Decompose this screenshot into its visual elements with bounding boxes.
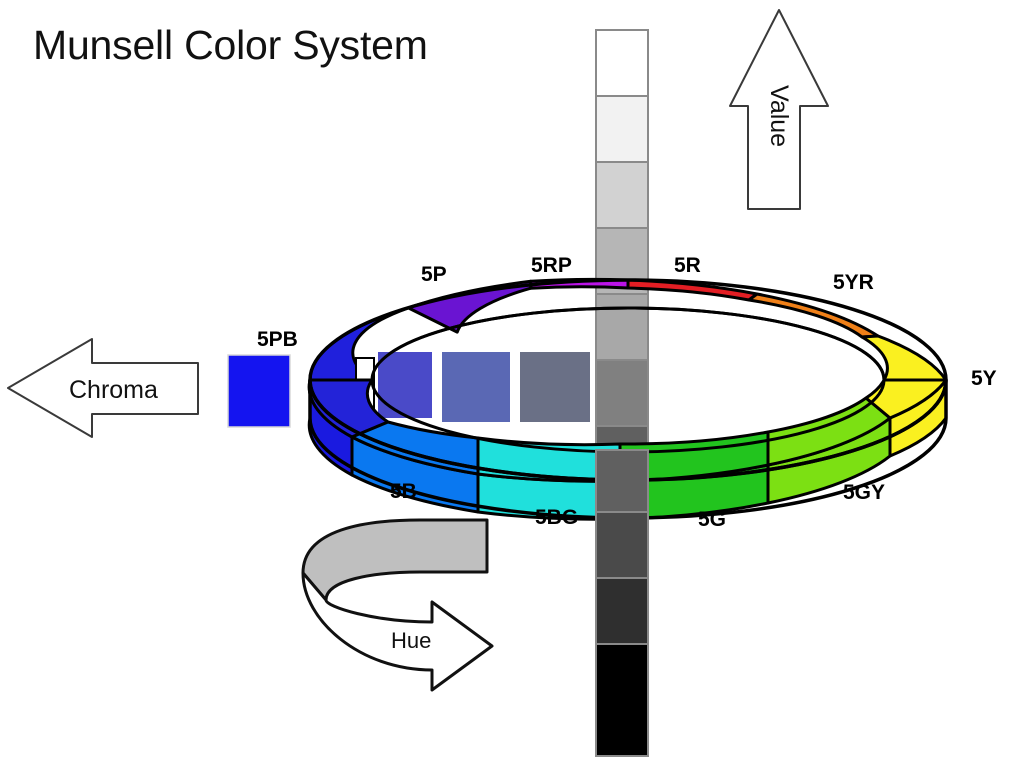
hue-arrow <box>303 520 492 690</box>
munsell-diagram-canvas: Munsell Color System <box>0 0 1024 782</box>
axis-label-chroma: Chroma <box>69 376 158 405</box>
axis-label-hue: Hue <box>391 628 431 654</box>
hue-label-5b: 5B <box>390 480 417 504</box>
hue-label-5yr: 5YR <box>833 271 874 295</box>
chroma-swatch-1-outside <box>228 355 290 427</box>
hue-label-5r: 5R <box>674 254 701 278</box>
hue-label-5y: 5Y <box>971 367 997 391</box>
hue-label-5pb: 5PB <box>257 328 298 352</box>
hue-label-5g: 5G <box>698 508 726 532</box>
hue-label-5rp: 5RP <box>531 254 572 278</box>
hue-label-5gy: 5GY <box>843 481 885 505</box>
hue-label-5bg: 5BG <box>535 506 578 530</box>
hue-label-5p: 5P <box>421 263 447 287</box>
hue-arrow-top-surface <box>303 520 487 600</box>
axis-label-value: Value <box>764 85 793 147</box>
